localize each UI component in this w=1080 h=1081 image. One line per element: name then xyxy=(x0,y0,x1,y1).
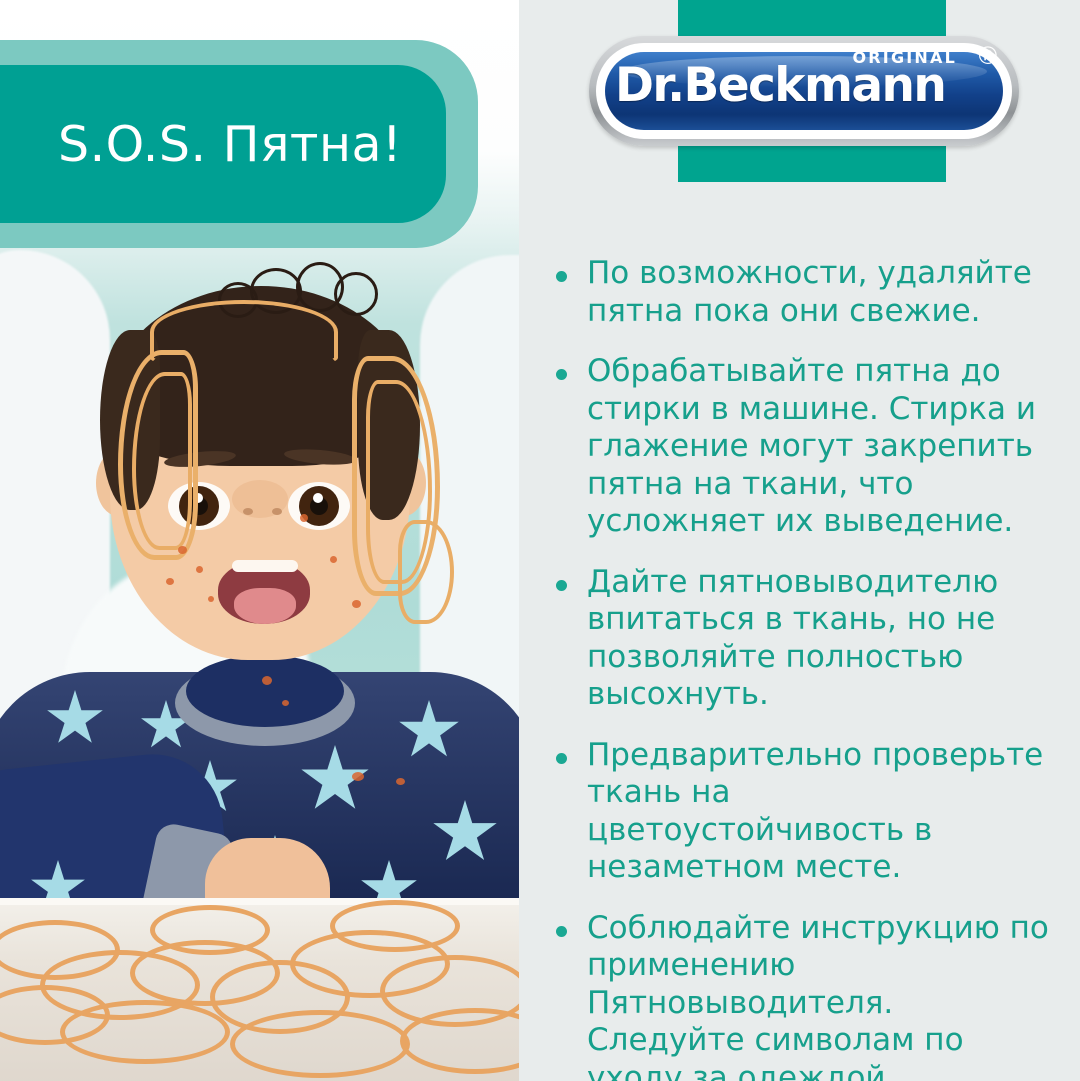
bullet-dot-icon xyxy=(556,753,567,764)
content-panel: Dr.Beckmann ORIGINAL ® По возможности, у… xyxy=(519,0,1080,1081)
sauce-stain xyxy=(396,778,405,785)
spaghetti-strand xyxy=(150,300,338,364)
tip-text: Соблюдайте инструкцию по применению Пятн… xyxy=(587,910,1056,1081)
collar-inner xyxy=(186,655,344,727)
list-item: Предварительно проверьте ткань на цветоу… xyxy=(556,737,1056,887)
sauce-stain xyxy=(352,772,364,781)
list-item: Обрабатывайте пятна до стирки в машине. … xyxy=(556,353,1056,541)
sauce-stain xyxy=(282,700,289,706)
bullet-dot-icon xyxy=(556,580,567,591)
sauce-stain xyxy=(300,514,308,522)
nostril-left xyxy=(243,508,253,515)
sauce-stain xyxy=(352,600,361,608)
sauce-stain xyxy=(330,556,337,563)
spaghetti-pile xyxy=(330,900,460,952)
tips-list: По возможности, удаляйте пятна пока они … xyxy=(556,255,1056,1081)
sauce-stain xyxy=(166,578,174,585)
sauce-stain xyxy=(208,596,214,602)
bullet-dot-icon xyxy=(556,926,567,937)
spaghetti-pile xyxy=(150,905,270,955)
poster-canvas: S.O.S. Пятна! Dr.Beckmann ORIGINAL ® По … xyxy=(0,0,1080,1081)
list-item: Дайте пятновыводителю впитаться в ткань,… xyxy=(556,564,1056,714)
tip-text: Дайте пятновыводителю впитаться в ткань,… xyxy=(587,564,1056,714)
eye-glint-right xyxy=(313,493,323,503)
page-title: S.O.S. Пятна! xyxy=(58,116,402,173)
hero-photo: S.O.S. Пятна! xyxy=(0,0,519,1081)
brand-logo: Dr.Beckmann ORIGINAL ® xyxy=(589,36,1019,146)
list-item: Соблюдайте инструкцию по применению Пятн… xyxy=(556,910,1056,1081)
hair-curl xyxy=(334,272,378,316)
tip-text: Обрабатывайте пятна до стирки в машине. … xyxy=(587,353,1056,541)
title-banner: S.O.S. Пятна! xyxy=(0,65,446,223)
sauce-stain xyxy=(178,546,187,554)
registered-trademark-icon: ® xyxy=(979,44,997,69)
tip-text: По возможности, удаляйте пятна пока они … xyxy=(587,255,1056,330)
spaghetti-pile xyxy=(230,1010,410,1078)
nostril-right xyxy=(272,508,282,515)
bullet-dot-icon xyxy=(556,271,567,282)
spaghetti-strand xyxy=(132,372,192,550)
bullet-dot-icon xyxy=(556,369,567,380)
spaghetti-strand xyxy=(398,520,454,624)
sauce-stain xyxy=(196,566,203,573)
tip-text: Предварительно проверьте ткань на цветоу… xyxy=(587,737,1056,887)
logo-original-label: ORIGINAL xyxy=(852,48,957,67)
list-item: По возможности, удаляйте пятна пока они … xyxy=(556,255,1056,330)
teeth xyxy=(232,560,298,572)
sauce-stain xyxy=(262,676,272,685)
tongue xyxy=(234,588,296,624)
